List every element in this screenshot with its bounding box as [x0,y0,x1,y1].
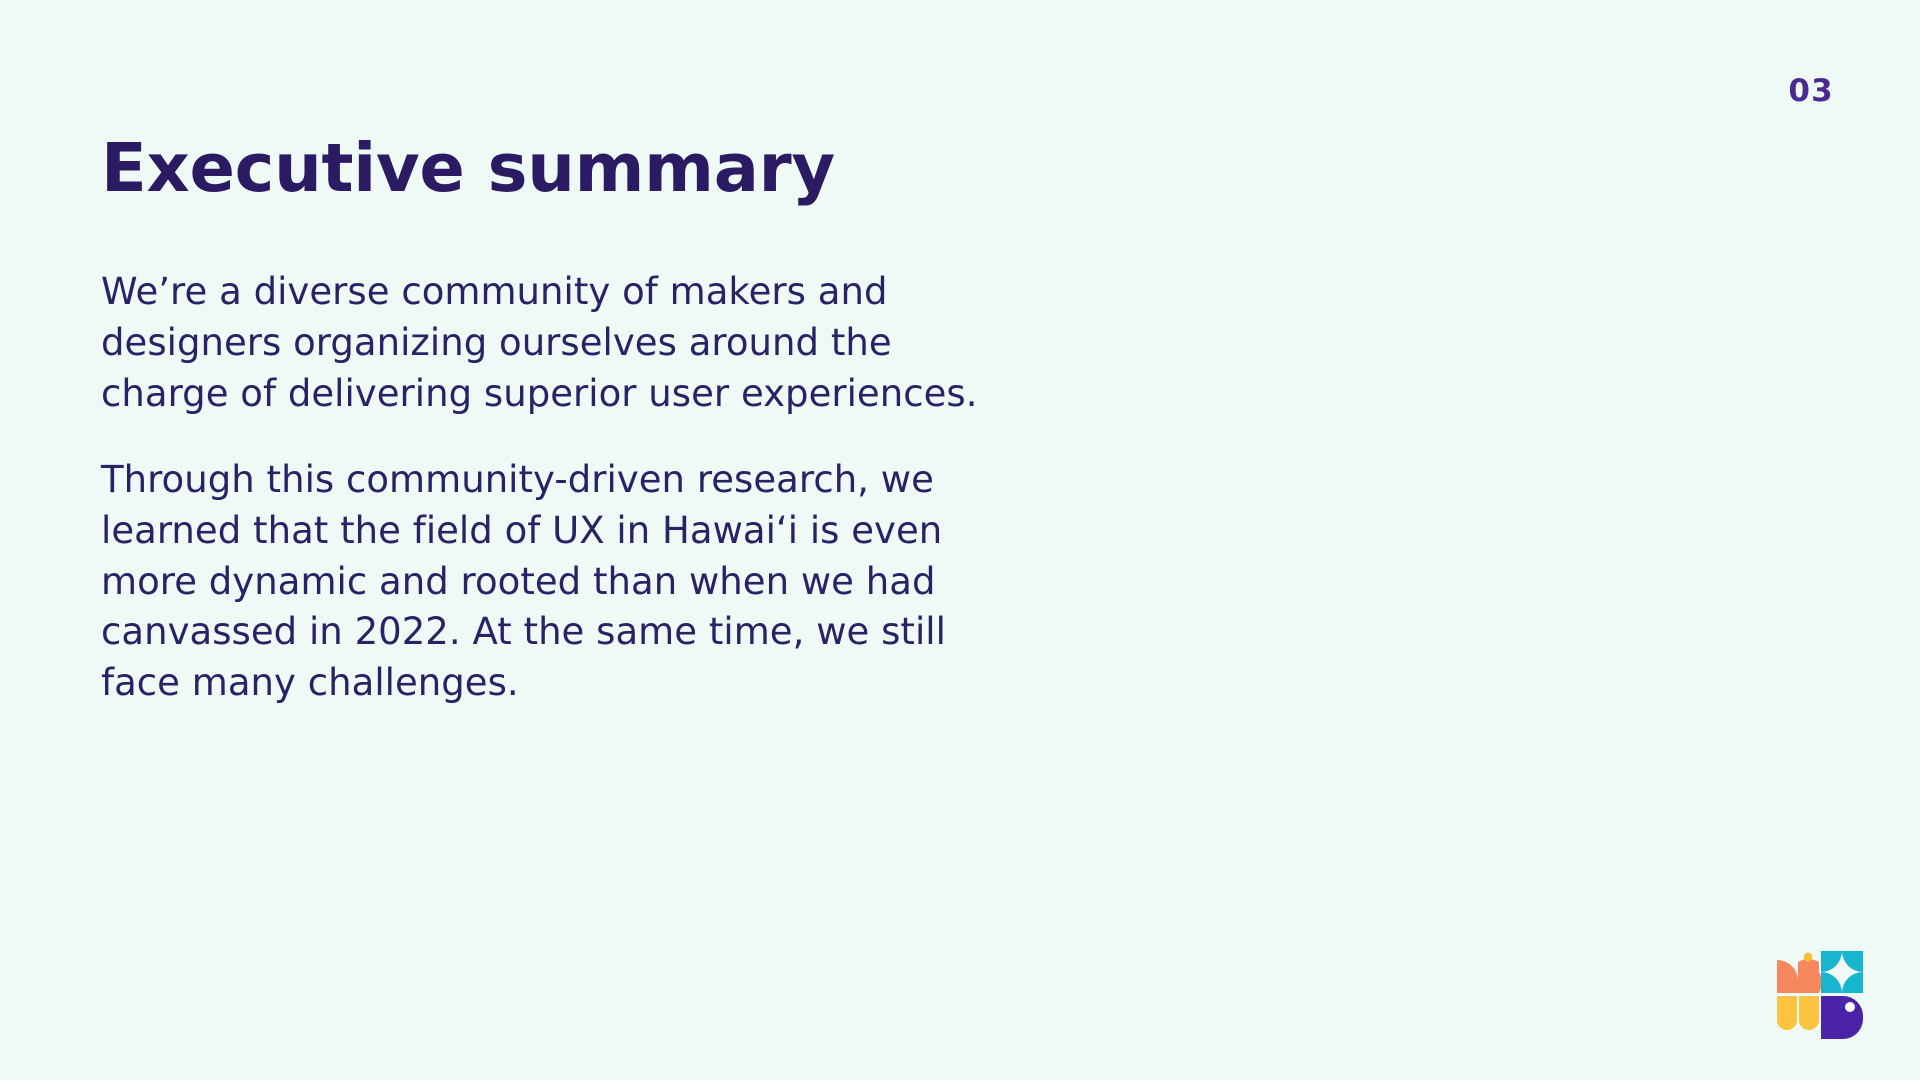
page-title: Executive summary [101,132,1061,204]
page-number: 03 [1788,76,1834,107]
four-petal-flower-shape [1821,951,1863,993]
two-petal-leaf-shape [1777,996,1819,1030]
paragraph-2: Through this community-driven research, … [101,455,1021,708]
paragraph-1: We’re a diverse community of makers and … [101,267,1021,419]
slide: 03 Executive summary We’re a diverse com… [0,0,1920,1080]
tulip-shape [1777,959,1822,993]
body-copy: We’re a diverse community of makers and … [101,267,1061,709]
uxhi-logo [1776,950,1864,1040]
fish-eye-dot [1845,1002,1855,1012]
tulip-dot [1804,953,1813,962]
slide-content: Executive summary We’re a diverse commun… [101,132,1061,709]
